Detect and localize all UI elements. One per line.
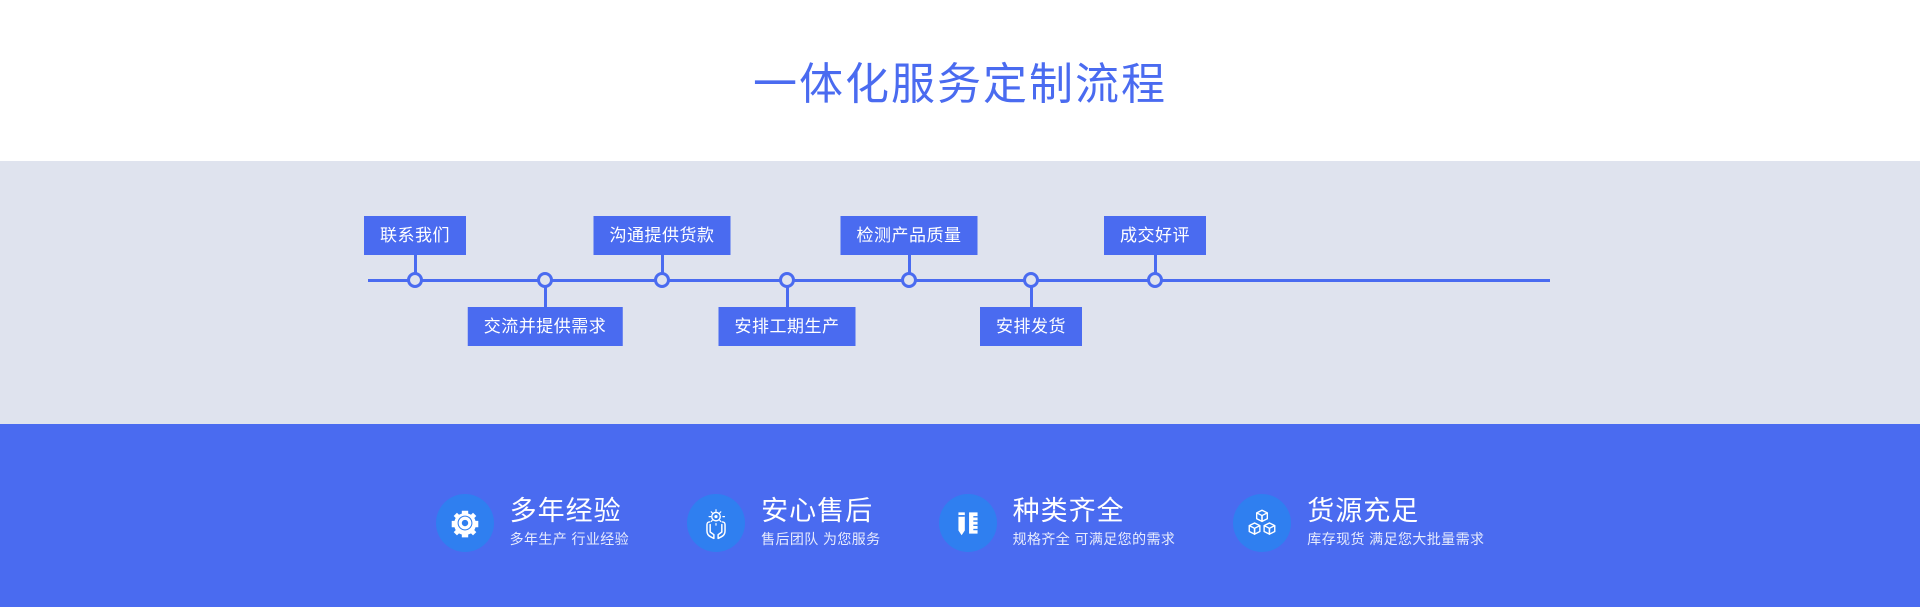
- feature-subtitle: 规格齐全 可满足您的需求: [1013, 531, 1176, 548]
- timeline-node-dot: [1147, 272, 1163, 288]
- features-list: 多年经验多年生产 行业经验安心售后售后团队 为您服务种类齐全规格齐全 可满足您的…: [436, 494, 1485, 552]
- timeline-node-dot: [901, 272, 917, 288]
- feature-text: 安心售后售后团队 为您服务: [761, 497, 881, 548]
- feature-item-2[interactable]: 安心售后售后团队 为您服务: [687, 494, 881, 552]
- feature-subtitle: 售后团队 为您服务: [761, 531, 881, 548]
- page-title: 一体化服务定制流程: [753, 55, 1167, 107]
- feature-subtitle: 多年生产 行业经验: [510, 531, 630, 548]
- timeline-node-dot: [1023, 272, 1039, 288]
- boxes-icon: [1233, 494, 1291, 552]
- feature-item-4[interactable]: 货源充足库存现货 满足您大批量需求: [1233, 494, 1484, 552]
- title-section: 一体化服务定制流程: [0, 0, 1920, 161]
- timeline-node-dot: [537, 272, 553, 288]
- timeline-inner: 联系我们交流并提供需求沟通提供货款安排工期生产检测产品质量安排发货成交好评: [0, 161, 1920, 424]
- timeline-node-dot: [407, 272, 423, 288]
- timeline-step-label: 成交好评: [1104, 216, 1206, 255]
- feature-text: 种类齐全规格齐全 可满足您的需求: [1013, 497, 1176, 548]
- feature-title: 安心售后: [761, 497, 881, 527]
- feature-title: 货源充足: [1307, 497, 1484, 527]
- feature-item-3[interactable]: 种类齐全规格齐全 可满足您的需求: [939, 494, 1176, 552]
- timeline-step-label: 检测产品质量: [841, 216, 978, 255]
- timeline-step-label: 安排工期生产: [719, 307, 856, 346]
- feature-text: 货源充足库存现货 满足您大批量需求: [1307, 497, 1484, 548]
- timeline-step-label: 安排发货: [980, 307, 1082, 346]
- timeline-step-label: 沟通提供货款: [594, 216, 731, 255]
- timeline-section: 联系我们交流并提供需求沟通提供货款安排工期生产检测产品质量安排发货成交好评: [0, 161, 1920, 424]
- feature-title: 种类齐全: [1013, 497, 1176, 527]
- timeline-node-dot: [779, 272, 795, 288]
- feature-item-1[interactable]: 多年经验多年生产 行业经验: [436, 494, 630, 552]
- hands-care-icon: [687, 494, 745, 552]
- timeline-step-label: 交流并提供需求: [468, 307, 623, 346]
- feature-title: 多年经验: [510, 497, 630, 527]
- timeline-node-dot: [654, 272, 670, 288]
- ruler-pen-icon: [939, 494, 997, 552]
- feature-text: 多年经验多年生产 行业经验: [510, 497, 630, 548]
- timeline-step-label: 联系我们: [364, 216, 466, 255]
- features-section: 多年经验多年生产 行业经验安心售后售后团队 为您服务种类齐全规格齐全 可满足您的…: [0, 424, 1920, 607]
- gear-icon: [436, 494, 494, 552]
- feature-subtitle: 库存现货 满足您大批量需求: [1307, 531, 1484, 548]
